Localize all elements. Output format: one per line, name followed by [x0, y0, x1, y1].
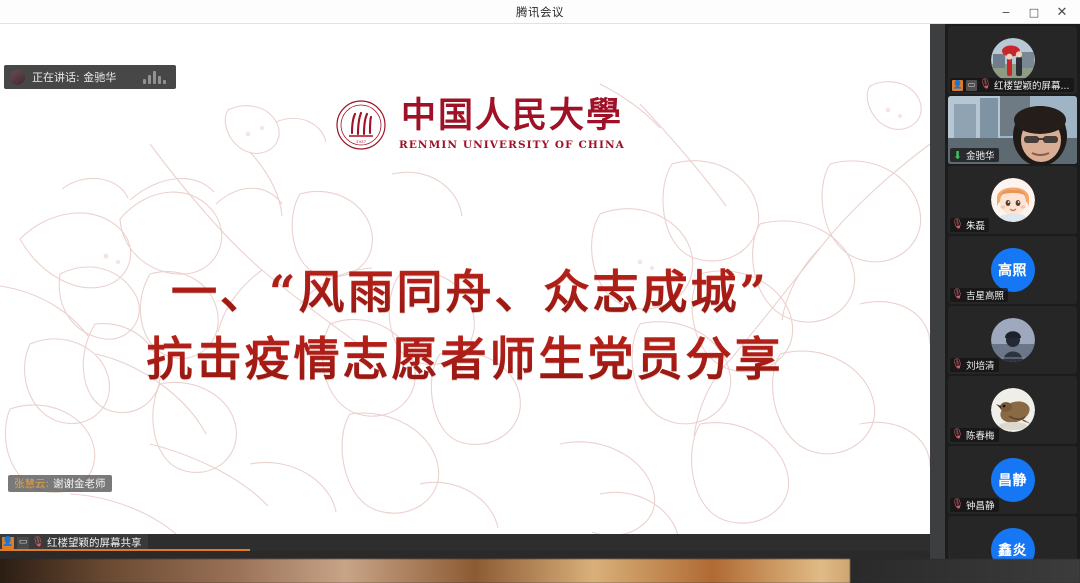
- participant-tile[interactable]: ⬇ 金驰华: [948, 96, 1077, 164]
- share-accent-underline: [0, 549, 250, 551]
- tile-footer: 🎙 钟昌静: [950, 498, 999, 512]
- slide-title-line-1: 一、“风雨同舟、众志成城”: [0, 259, 930, 326]
- mic-on-icon: ⬇: [952, 150, 963, 161]
- presentation-slide: 1937 中国人民大學 RENMIN UNIVERSITY OF CHINA 一…: [0, 24, 930, 534]
- screen-share-icon: ▭: [966, 80, 977, 91]
- mic-muted-icon: 🎙: [952, 430, 963, 441]
- participant-name: 朱磊: [966, 218, 985, 232]
- participant-name: 红楼望颖的屏幕...: [994, 78, 1070, 92]
- mic-muted-icon: 🎙: [32, 537, 44, 549]
- avatar: [991, 38, 1035, 82]
- participant-tile[interactable]: 🎙 朱磊: [948, 166, 1077, 234]
- participant-name: 钟昌静: [966, 498, 995, 512]
- host-icon: 👤: [2, 537, 14, 549]
- window-title: 腾讯会议: [516, 4, 564, 20]
- avatar: [991, 178, 1035, 222]
- university-logo: 1937 中国人民大學 RENMIN UNIVERSITY OF CHINA: [335, 98, 625, 151]
- screen-share-label: 红楼望颖的屏幕共享: [47, 535, 142, 550]
- tencent-meeting-window: 腾讯会议 − □ ✕: [0, 0, 1080, 583]
- minimize-icon[interactable]: −: [992, 0, 1020, 24]
- chat-sender-name: 张慧云:: [14, 476, 49, 491]
- participant-video-rail[interactable]: 👤 ▭ 🎙 红楼望颖的屏幕...: [945, 24, 1080, 559]
- maximize-icon[interactable]: □: [1020, 0, 1048, 24]
- tile-footer: ⬇ 金驰华: [950, 148, 999, 162]
- participant-tile[interactable]: 👤 ▭ 🎙 红楼望颖的屏幕...: [948, 26, 1077, 94]
- title-bar: 腾讯会议 − □ ✕: [0, 0, 1080, 24]
- sound-wave-icon: [143, 71, 166, 84]
- participant-tile[interactable]: 🎙 陈春梅: [948, 376, 1077, 444]
- avatar: 高照: [991, 248, 1035, 292]
- tile-footer: 🎙 刘培清: [950, 358, 999, 372]
- panel-divider: [930, 24, 945, 559]
- participant-tile[interactable]: 🎙 刘培清: [948, 306, 1077, 374]
- speaking-indicator: 正在讲话: 金驰华: [4, 65, 176, 89]
- mic-muted-icon: 🎙: [952, 360, 963, 371]
- host-icon: 👤: [952, 80, 963, 91]
- mic-muted-icon: 🎙: [952, 290, 963, 301]
- participant-name: 金驰华: [966, 148, 995, 162]
- screen-share-status-bar: 👤 ▭ 🎙 红楼望颖的屏幕共享: [0, 534, 930, 551]
- mic-muted-icon: 🎙: [952, 220, 963, 231]
- logo-text-block: 中国人民大學 RENMIN UNIVERSITY OF CHINA: [399, 98, 625, 151]
- close-icon[interactable]: ✕: [1048, 0, 1076, 24]
- avatar: [991, 388, 1035, 432]
- avatar: [991, 318, 1035, 362]
- background-window-strip: [0, 559, 1080, 583]
- mic-muted-icon: 🎙: [952, 500, 963, 511]
- university-seal-icon: 1937: [335, 99, 387, 151]
- tile-footer: 👤 ▭ 🎙 红楼望颖的屏幕...: [950, 78, 1074, 92]
- speaking-label: 正在讲话: 金驰华: [32, 69, 116, 85]
- participant-name: 陈春梅: [966, 428, 995, 442]
- background-window-dark-area: [850, 559, 1080, 583]
- chat-message-overlay: 张慧云: 谢谢金老师: [8, 475, 112, 492]
- logo-english-name: RENMIN UNIVERSITY OF CHINA: [399, 139, 625, 151]
- window-controls: − □ ✕: [992, 0, 1076, 24]
- screen-share-icon: ▭: [17, 537, 29, 549]
- mic-muted-icon: 🎙: [980, 80, 991, 91]
- shared-screen-area[interactable]: 1937 中国人民大學 RENMIN UNIVERSITY OF CHINA 一…: [0, 24, 930, 559]
- tile-footer: 🎙 吉星高照: [950, 288, 1008, 302]
- logo-chinese-name: 中国人民大學: [401, 98, 623, 133]
- participant-tile[interactable]: 昌静 🎙 钟昌静: [948, 446, 1077, 514]
- tile-footer: 🎙 陈春梅: [950, 428, 999, 442]
- slide-title-block: 一、“风雨同舟、众志成城” 抗击疫情志愿者师生党员分享: [0, 259, 930, 392]
- svg-text:1937: 1937: [356, 139, 367, 144]
- chat-message-text: 谢谢金老师: [53, 476, 106, 491]
- tile-footer: 🎙 朱磊: [950, 218, 989, 232]
- avatar-icon: [10, 70, 25, 85]
- participant-name: 吉星高照: [966, 288, 1004, 302]
- participant-tile[interactable]: 高照 🎙 吉星高照: [948, 236, 1077, 304]
- avatar: 昌静: [991, 458, 1035, 502]
- participant-name: 刘培清: [966, 358, 995, 372]
- slide-title-line-2: 抗击疫情志愿者师生党员分享: [0, 326, 930, 393]
